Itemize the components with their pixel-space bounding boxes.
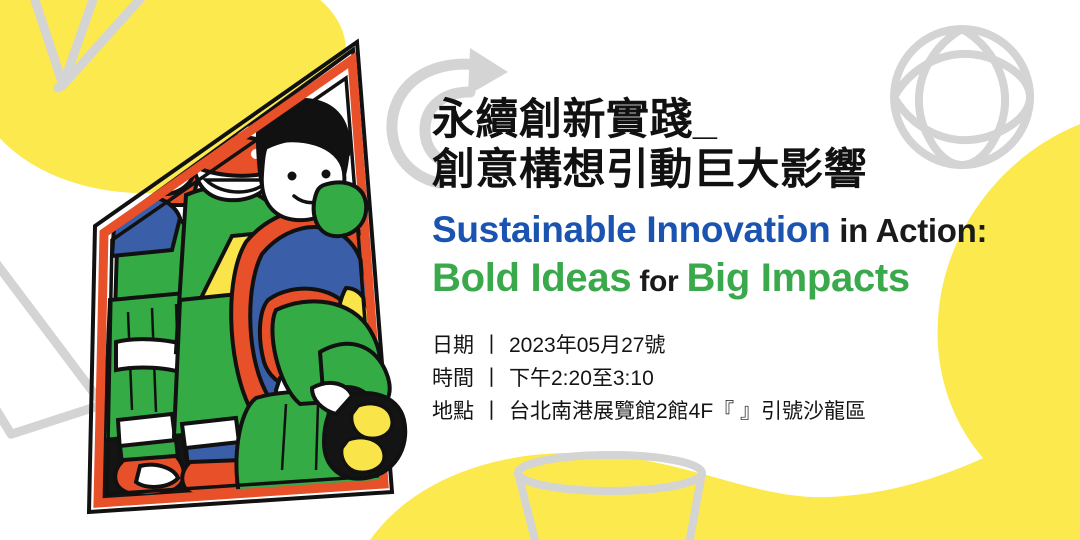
title-en-for: for bbox=[631, 265, 686, 298]
title-en-big-impacts: Big Impacts bbox=[686, 256, 909, 300]
green-leaf-shape bbox=[314, 182, 367, 236]
detail-time-value: 下午2:20至3:10 bbox=[509, 367, 654, 390]
detail-time-label: 時間 bbox=[432, 367, 474, 390]
title-en-bold-ideas: Bold Ideas bbox=[432, 256, 631, 300]
detail-separator: 丨 bbox=[474, 367, 509, 390]
detail-separator: 丨 bbox=[474, 400, 509, 423]
title-en-sustainable-innovation: Sustainable Innovation bbox=[432, 209, 830, 250]
title-english-line-2: Bold Ideas for Big Impacts bbox=[432, 256, 1052, 300]
detail-venue-value: 台北南港展覽館2館4F『 』引號沙龍區 bbox=[509, 400, 866, 423]
detail-venue: 地點丨台北南港展覽館2館4F『 』引號沙龍區 bbox=[432, 396, 1052, 428]
text-block: 永續創新實踐_ 創意構想引動巨大影響 Sustainable Innovatio… bbox=[432, 96, 1052, 429]
event-details: 日期丨2023年05月27號 時間丨下午2:20至3:10 地點丨台北南港展覽館… bbox=[432, 330, 1052, 428]
detail-time: 時間丨下午2:20至3:10 bbox=[432, 363, 1052, 395]
title-en-in-action: in Action: bbox=[830, 212, 987, 249]
title-chinese-line-2: 創意構想引動巨大影響 bbox=[432, 146, 1052, 194]
detail-date: 日期丨2023年05月27號 bbox=[432, 330, 1052, 362]
detail-venue-label: 地點 bbox=[432, 400, 474, 423]
event-banner: 永續創新實踐_ 創意構想引動巨大影響 Sustainable Innovatio… bbox=[0, 0, 1080, 540]
detail-separator: 丨 bbox=[474, 334, 509, 357]
title-english-line-1: Sustainable Innovation in Action: bbox=[432, 210, 1052, 251]
title-chinese-line-1: 永續創新實踐_ bbox=[432, 96, 1052, 144]
detail-date-label: 日期 bbox=[432, 334, 474, 357]
detail-date-value: 2023年05月27號 bbox=[509, 334, 665, 357]
